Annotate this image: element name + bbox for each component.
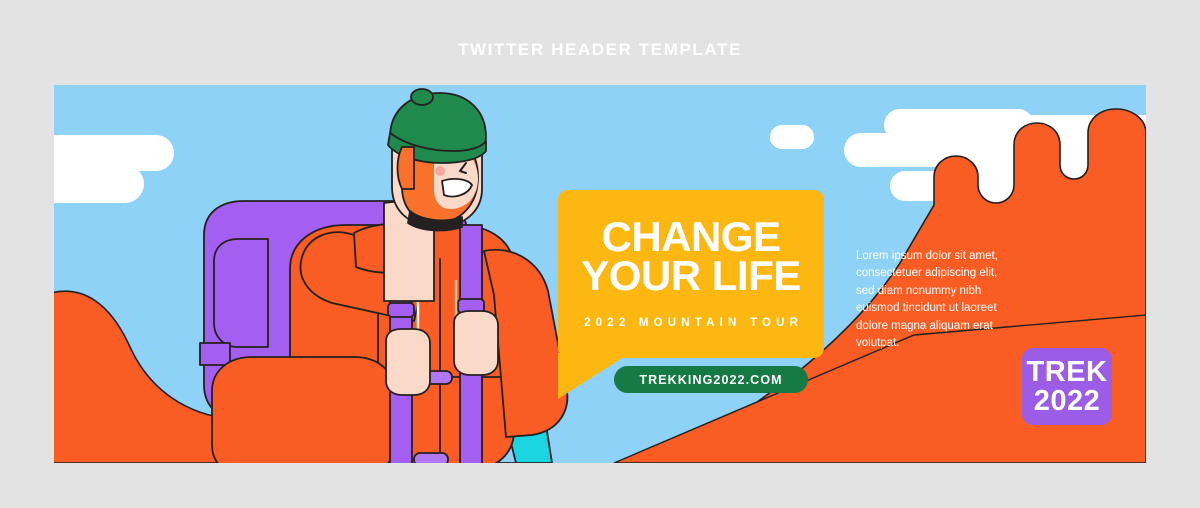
- hand-right-shape: [454, 311, 498, 375]
- page-title: TWITTER HEADER TEMPLATE: [0, 40, 1200, 60]
- headline-subtitle: 2022 MOUNTAIN TOUR: [558, 317, 824, 329]
- cta-label: TREKKING2022.COM: [639, 373, 782, 387]
- beanie-pom-shape: [411, 89, 433, 105]
- body-copy-paragraph: Lorem ipsum dolor sit amet, consectetuer…: [856, 248, 1016, 353]
- cheek-shape: [435, 166, 445, 176]
- headline: CHANGE YOUR LIFE: [558, 217, 824, 296]
- backpack-buckle-left-shape: [200, 343, 230, 365]
- hand-left-shape: [386, 329, 430, 395]
- backpack-pocket-shape: [214, 239, 268, 347]
- jacket-pocket-left-shape: [212, 357, 394, 463]
- headline-line-2: YOUR LIFE: [558, 256, 824, 295]
- strap-clip-lower: [414, 453, 448, 463]
- hair-tuft-shape: [398, 147, 415, 189]
- trek-badge-line-2: 2022: [1034, 387, 1101, 416]
- strap-adjuster-left: [388, 303, 414, 317]
- twitter-header-banner: CHANGE YOUR LIFE 2022 MOUNTAIN TOUR TREK…: [54, 85, 1146, 463]
- trek-badge: TREK 2022: [1022, 348, 1112, 425]
- trek-badge-line-1: TREK: [1027, 358, 1108, 387]
- cta-website-button[interactable]: TREKKING2022.COM: [614, 366, 808, 393]
